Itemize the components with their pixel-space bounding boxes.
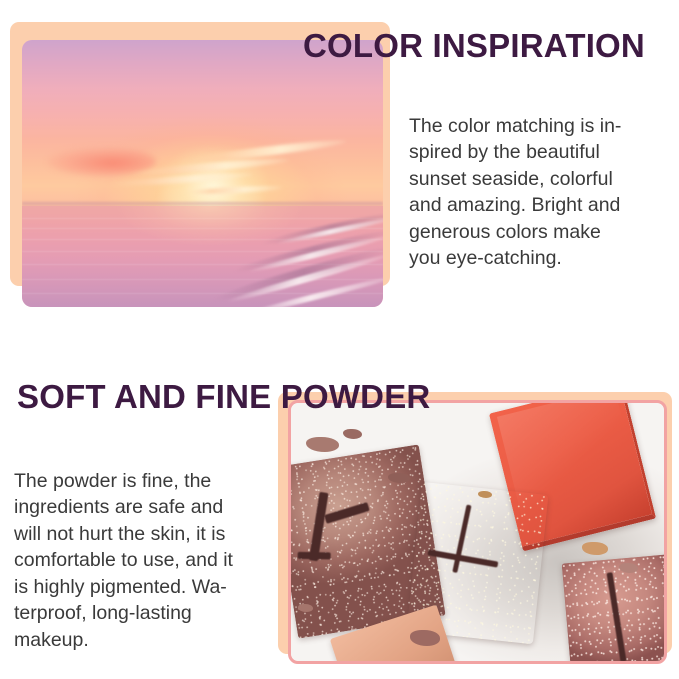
product-feature-page: COLOR INSPIRATION The color matching is … — [0, 0, 679, 679]
powder-photo-content — [291, 403, 664, 661]
pan-crack — [297, 551, 330, 558]
powder-crumb — [388, 473, 410, 483]
sunset-seaside-photo — [22, 40, 383, 307]
section-heading-soft-and-fine-powder: SOFT AND FINE POWDER — [17, 377, 430, 417]
sunset-sea — [22, 206, 383, 307]
eyeshadow-pan-pink-glitter — [562, 553, 664, 661]
powder-crumb — [343, 429, 362, 439]
section-body-color-inspiration: The color matching is in- spired by the … — [409, 113, 671, 272]
section-body-soft-and-fine-powder: The powder is fine, the ingredients are … — [14, 468, 286, 654]
pan-crack — [308, 492, 328, 562]
powder-crumb — [410, 630, 440, 645]
pan-crack — [427, 549, 498, 567]
pan-crack — [606, 572, 626, 661]
sea-ripple — [22, 279, 383, 280]
sea-ripple — [22, 218, 383, 219]
powder-crumb — [298, 604, 313, 612]
sunset-photo-content — [22, 40, 383, 307]
pan-crack — [323, 502, 368, 523]
section-heading-color-inspiration: COLOR INSPIRATION — [303, 26, 645, 66]
crushed-eyeshadow-pans-photo — [288, 400, 667, 664]
sea-ripple — [22, 239, 383, 240]
